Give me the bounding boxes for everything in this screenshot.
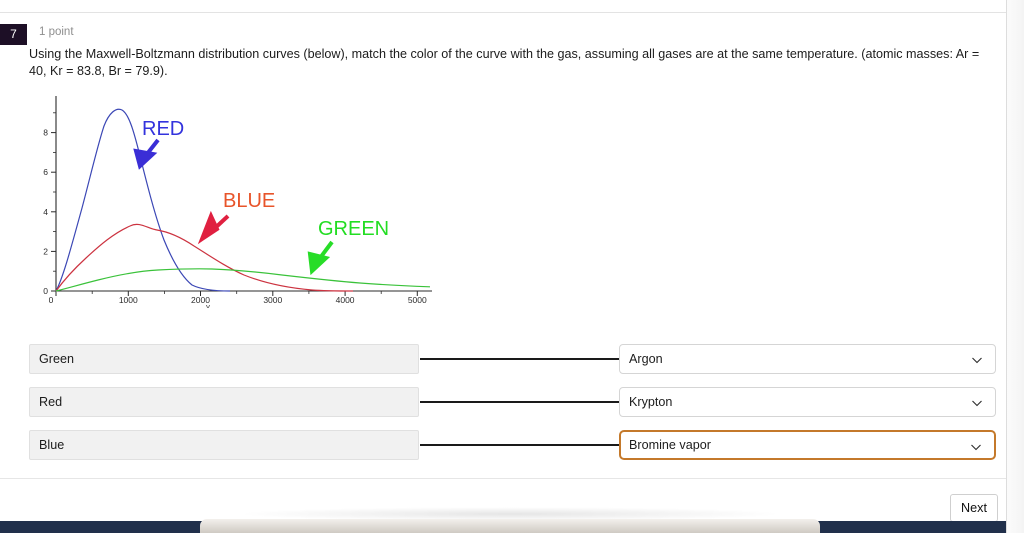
- annotation-red-label: RED: [142, 118, 184, 140]
- match-connector-0: [420, 358, 623, 360]
- match-connector-1: [420, 401, 623, 403]
- match-dropdown-0-value: Argon: [629, 352, 663, 366]
- taskbar-sliver: [200, 519, 820, 533]
- top-divider: [0, 12, 1006, 13]
- scrollbar-gutter[interactable]: [1006, 0, 1024, 533]
- svg-text:1000: 1000: [119, 295, 138, 305]
- maxwell-boltzmann-chart: 0 2 4 6 8: [30, 88, 440, 308]
- footer-divider: [0, 478, 1006, 479]
- match-left-option-2: Blue: [29, 430, 419, 460]
- match-left-option-1: Red: [29, 387, 419, 417]
- annotation-green: GREEN: [310, 218, 389, 271]
- svg-text:0: 0: [49, 295, 54, 305]
- question-points-label: 1 point: [39, 26, 74, 38]
- question-number-badge: 7: [0, 24, 27, 45]
- chevron-down-icon: [971, 354, 983, 366]
- match-left-option-0: Green: [29, 344, 419, 374]
- match-row: Red Krypton: [0, 387, 1006, 417]
- annotation-green-arrow: [310, 242, 332, 271]
- match-dropdown-0[interactable]: Argon: [619, 344, 996, 374]
- matching-area: Green Argon Red Krypton Blue: [0, 340, 1006, 470]
- svg-text:v: v: [206, 302, 210, 308]
- annotation-blue: BLUE: [202, 190, 275, 239]
- match-dropdown-1[interactable]: Krypton: [619, 387, 996, 417]
- match-row: Blue Bromine vapor: [0, 430, 1006, 460]
- svg-text:0: 0: [43, 286, 48, 296]
- annotation-red-arrow: [136, 140, 158, 166]
- annotation-blue-label: BLUE: [223, 190, 275, 212]
- chevron-down-icon: [971, 397, 983, 409]
- quiz-page: 7 1 point Using the Maxwell-Boltzmann di…: [0, 0, 1024, 533]
- annotation-blue-arrow: [202, 216, 228, 239]
- match-dropdown-2[interactable]: Bromine vapor: [619, 430, 996, 460]
- question-prompt: Using the Maxwell-Boltzmann distribution…: [29, 46, 995, 80]
- svg-text:2: 2: [43, 246, 48, 256]
- next-button[interactable]: Next: [950, 494, 998, 522]
- svg-text:6: 6: [43, 167, 48, 177]
- match-dropdown-1-value: Krypton: [629, 395, 672, 409]
- annotation-green-label: GREEN: [318, 218, 389, 240]
- svg-text:4000: 4000: [336, 295, 355, 305]
- annotation-red: RED: [136, 118, 184, 166]
- chevron-down-icon: [970, 441, 982, 453]
- svg-text:5000: 5000: [408, 295, 427, 305]
- svg-text:8: 8: [43, 128, 48, 138]
- match-row: Green Argon: [0, 344, 1006, 374]
- scrollbar-track[interactable]: [1007, 0, 1024, 533]
- match-connector-2: [420, 444, 623, 446]
- match-dropdown-2-value: Bromine vapor: [629, 438, 711, 452]
- svg-text:4: 4: [43, 207, 48, 217]
- svg-text:3000: 3000: [263, 295, 282, 305]
